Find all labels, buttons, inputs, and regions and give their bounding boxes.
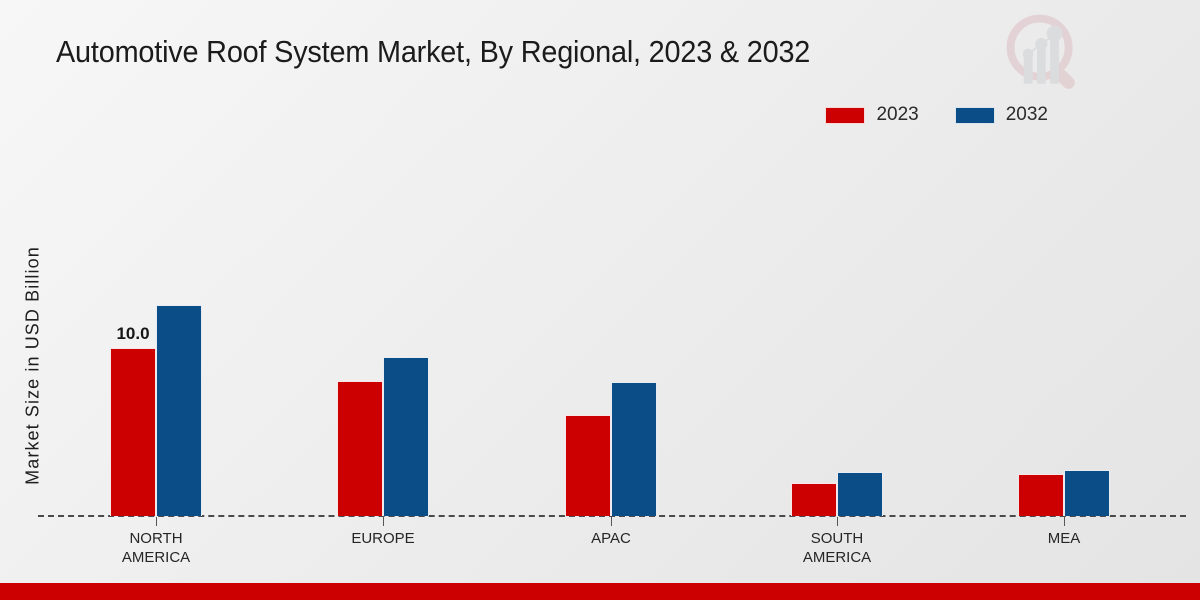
x-tick-apac xyxy=(611,517,612,526)
bar-group-north-america: 10.0 xyxy=(110,305,202,516)
x-tick-mea xyxy=(1064,517,1065,526)
category-label-mea: MEA xyxy=(969,529,1159,548)
bar-south-america-2023[interactable] xyxy=(791,483,837,516)
category-label-north-america: NORTH AMERICA xyxy=(61,529,251,567)
bar-mea-2023[interactable] xyxy=(1018,474,1064,516)
x-tick-europe xyxy=(383,517,384,526)
chart-container: Automotive Roof System Market, By Region… xyxy=(0,0,1200,600)
category-label-europe: EUROPE xyxy=(288,529,478,548)
bar-group-apac xyxy=(565,382,657,516)
footer-accent-bar xyxy=(0,583,1200,600)
bar-apac-2032[interactable] xyxy=(611,382,657,516)
bar-europe-2023[interactable] xyxy=(337,381,383,516)
bar-north-america-2032[interactable] xyxy=(156,305,202,516)
bar-mea-2032[interactable] xyxy=(1064,470,1110,516)
bar-value-label-north-america-2023: 10.0 xyxy=(116,324,149,344)
bar-north-america-2023[interactable]: 10.0 xyxy=(110,348,156,516)
category-label-south-america: SOUTH AMERICA xyxy=(742,529,932,567)
x-tick-north-america xyxy=(156,517,157,526)
plot-area: 10.0 NORTH AMERICA EUROPE APAC SOUTH AME… xyxy=(0,0,1200,600)
bar-group-south-america xyxy=(791,472,883,516)
bar-europe-2032[interactable] xyxy=(383,357,429,516)
x-tick-south-america xyxy=(837,517,838,526)
bar-group-europe xyxy=(337,357,429,516)
category-label-apac: APAC xyxy=(516,529,706,548)
bar-apac-2023[interactable] xyxy=(565,415,611,516)
bar-group-mea xyxy=(1018,470,1110,516)
bar-south-america-2032[interactable] xyxy=(837,472,883,516)
